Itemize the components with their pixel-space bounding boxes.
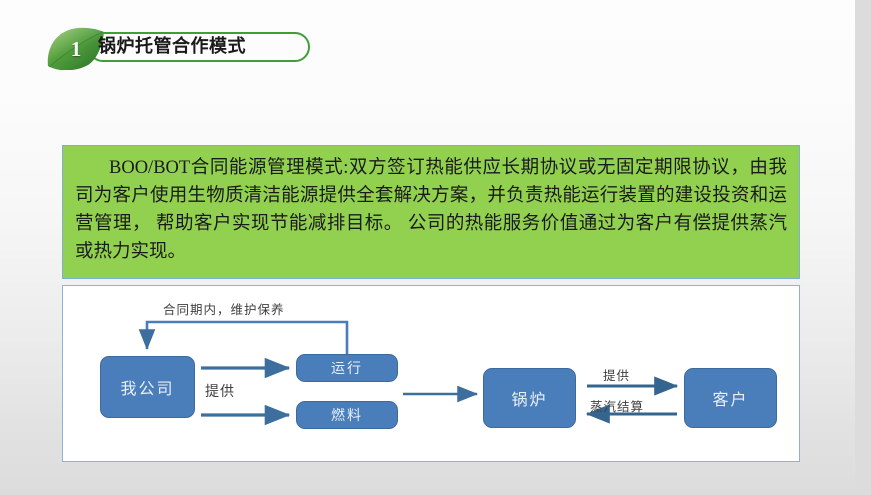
diagram-node-fuel[interactable]: 燃料 bbox=[296, 401, 398, 429]
process-diagram: 我公司 运行 燃料 锅炉 客户 合同期内，维护保养 提供 提供 蒸汽结算 bbox=[62, 285, 800, 462]
edge-label-provide-left: 提供 bbox=[205, 381, 235, 401]
slide-canvas: 1 锅炉托管合作模式 BOO/BOT合同能源管理模式:双方签订热能供应长期协议或… bbox=[0, 0, 871, 495]
diagram-node-boiler[interactable]: 锅炉 bbox=[483, 368, 576, 428]
summary-callout: BOO/BOT合同能源管理模式:双方签订热能供应长期协议或无固定期限协议，由我司… bbox=[62, 145, 800, 279]
edge-label-provide-right: 提供 bbox=[603, 365, 630, 384]
edge-label-maintain: 合同期内，维护保养 bbox=[163, 299, 285, 318]
section-number: 1 bbox=[44, 26, 106, 70]
diagram-node-company[interactable]: 我公司 bbox=[100, 356, 195, 418]
section-header: 1 锅炉托管合作模式 bbox=[40, 22, 320, 70]
summary-text: BOO/BOT合同能源管理模式:双方签订热能供应长期协议或无固定期限协议，由我司… bbox=[75, 154, 787, 266]
page-title: 锅炉托管合作模式 bbox=[98, 33, 308, 61]
edge-label-settle: 蒸汽结算 bbox=[590, 396, 644, 415]
diagram-node-operate[interactable]: 运行 bbox=[296, 354, 398, 382]
diagram-node-client[interactable]: 客户 bbox=[684, 368, 777, 428]
slide-right-gutter bbox=[855, 0, 871, 495]
